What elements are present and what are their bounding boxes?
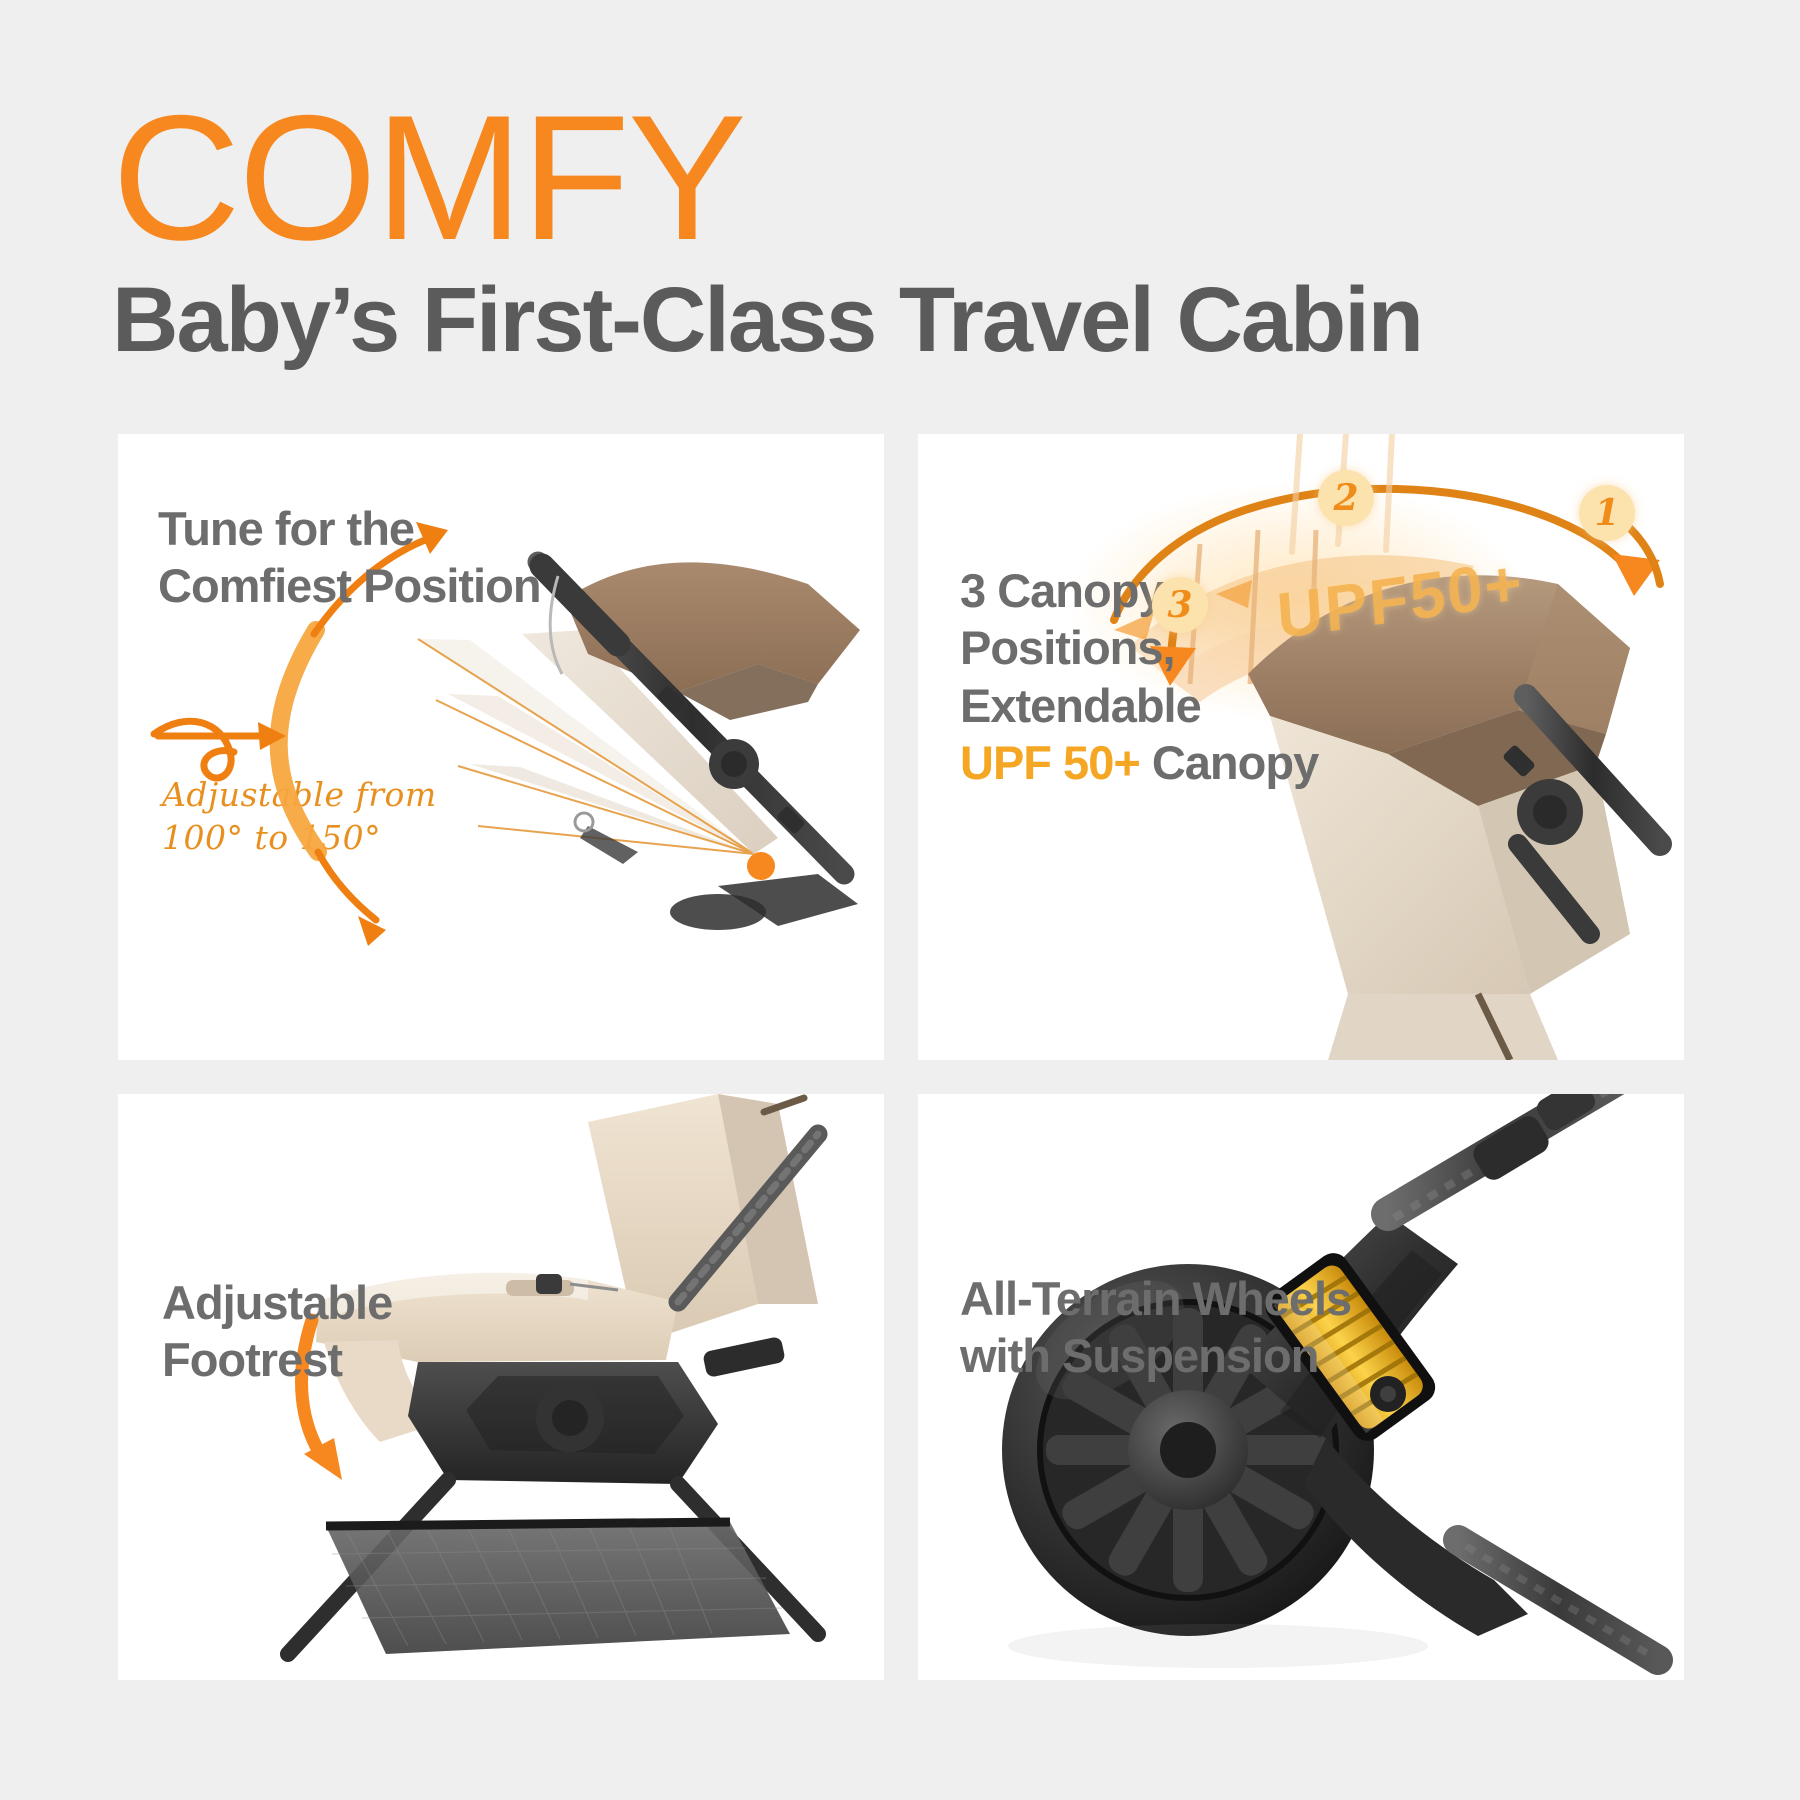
panel-wheels: All-Terrain Wheels with Suspension	[918, 1094, 1684, 1680]
panel-recline: Tune for the Comfiest Position Adjustabl…	[118, 434, 884, 1060]
wheel-suspension-illustration	[918, 1094, 1684, 1680]
panel-canopy-subtitle: UPF 50+ Canopy	[960, 734, 1318, 791]
page-title: COMFY	[112, 96, 1712, 260]
feature-panel-grid: Tune for the Comfiest Position Adjustabl…	[118, 434, 1684, 1682]
canopy-text-block: 3 Canopy Positions, Extendable UPF 50+ C…	[960, 562, 1318, 791]
canopy-badge-1: 1	[1579, 485, 1635, 541]
panel-wheels-title: All-Terrain Wheels with Suspension	[960, 1270, 1351, 1385]
recline-text-block: Tune for the Comfiest Position	[158, 500, 541, 615]
panel-canopy: UPF50+ 1 2 3 3 Canopy Positions, Extenda…	[918, 434, 1684, 1060]
panel-footrest: Adjustable Footrest	[118, 1094, 884, 1680]
canopy-badge-2: 2	[1318, 470, 1374, 526]
page-header: COMFY Baby’s First-Class Travel Cabin	[112, 96, 1712, 368]
wheels-text-block: All-Terrain Wheels with Suspension	[960, 1270, 1351, 1385]
page-subtitle: Baby’s First-Class Travel Cabin	[112, 274, 1712, 368]
canopy-badge-3: 3	[1152, 577, 1208, 633]
canopy-word: Canopy	[1140, 736, 1318, 789]
footrest-text-block: Adjustable Footrest	[162, 1274, 392, 1389]
upf-highlight: UPF 50+	[960, 736, 1140, 789]
panel-canopy-title: 3 Canopy Positions, Extendable	[960, 562, 1318, 734]
panel-footrest-title: Adjustable Footrest	[162, 1274, 392, 1389]
panel-recline-title: Tune for the Comfiest Position	[158, 500, 541, 615]
